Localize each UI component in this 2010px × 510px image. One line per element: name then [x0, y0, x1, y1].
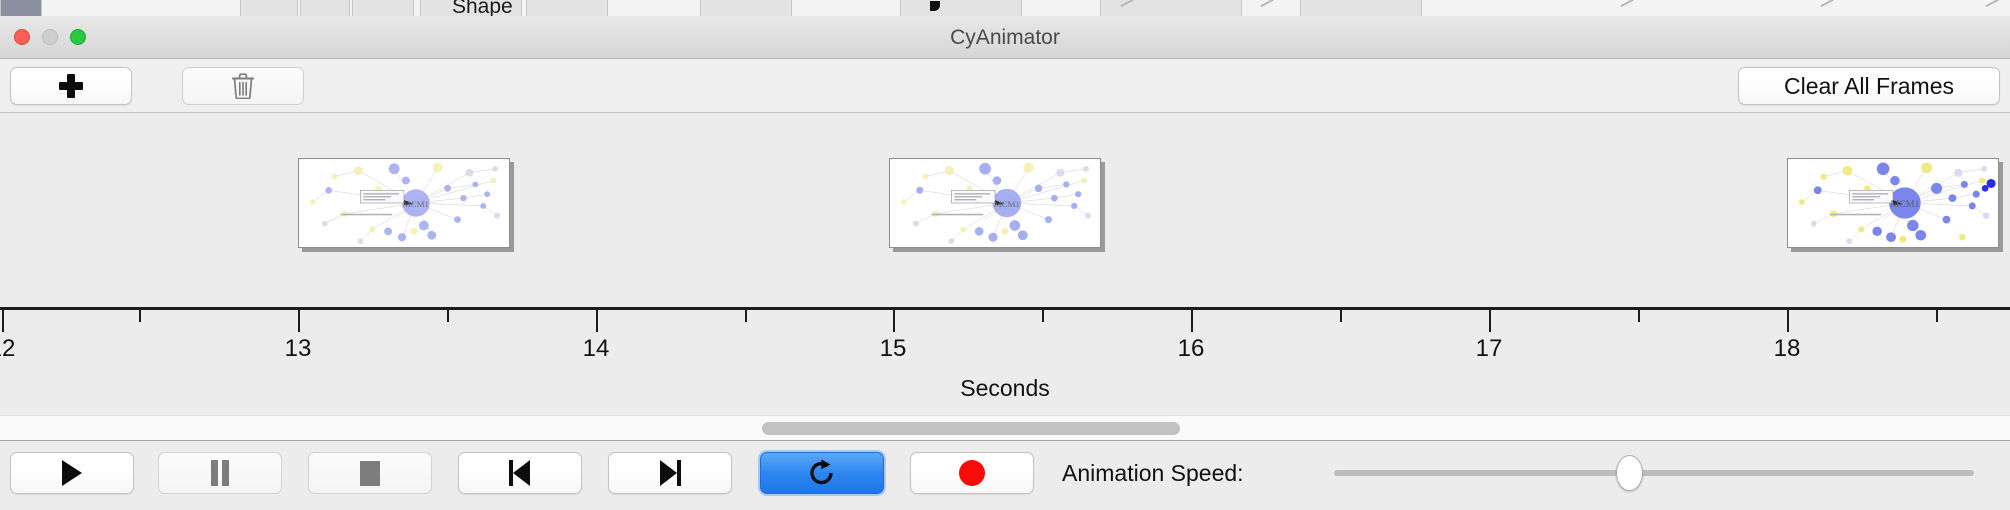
frame-image: MCM1	[298, 158, 510, 248]
frame-thumbnail[interactable]: MCM1	[889, 158, 1101, 248]
axis-tick-minor	[1042, 310, 1044, 322]
animation-speed-label: Animation Speed:	[1062, 452, 1244, 494]
background-partial-label: Shape	[452, 0, 513, 16]
skip-forward-icon	[659, 460, 681, 486]
frames-area[interactable]: MCM1	[0, 113, 2010, 307]
stop-icon	[360, 461, 380, 486]
network-thumbnail-pale: MCM1	[890, 159, 1100, 247]
axis-tick-major	[2, 310, 4, 332]
toolbar: Clear All Frames	[0, 59, 2010, 113]
window-title: CyAnimator	[0, 16, 2010, 59]
trash-icon	[232, 73, 254, 99]
background-fragment	[352, 0, 414, 16]
background-tick	[1620, 0, 1633, 7]
svg-text:MCM1: MCM1	[1890, 199, 1919, 210]
skip-forward-button[interactable]	[608, 452, 732, 494]
axis-tick-label: 15	[880, 335, 907, 363]
axis-tick-minor	[447, 310, 449, 322]
background-fragment	[900, 0, 1022, 16]
timeline-axis: 12131415161718 Seconds	[0, 307, 2010, 415]
axis-tick-label: 12	[0, 335, 15, 363]
svg-text:MCM1: MCM1	[994, 199, 1020, 209]
cyanimator-window: Shape CyAnimator	[0, 0, 2010, 510]
background-window-strip: Shape	[0, 0, 2010, 16]
axis-title: Seconds	[0, 375, 2010, 402]
axis-tick-label: 14	[583, 335, 610, 363]
background-tick	[1985, 0, 1998, 7]
background-fragment	[1100, 0, 1242, 16]
maximize-button[interactable]	[70, 29, 86, 45]
timeline-panel[interactable]: MCM1	[0, 113, 2010, 415]
axis-tick-major	[596, 310, 598, 332]
skip-back-button[interactable]	[458, 452, 582, 494]
animation-speed-slider[interactable]	[1334, 452, 1974, 494]
axis-tick-minor	[745, 310, 747, 322]
title-bar[interactable]: CyAnimator	[0, 16, 2010, 59]
loop-icon	[807, 458, 837, 488]
background-fragment	[300, 0, 350, 16]
axis-tick-minor	[139, 310, 141, 322]
add-frame-button[interactable]	[10, 67, 132, 105]
background-fragment	[1300, 0, 1422, 16]
minimize-button[interactable]	[42, 29, 58, 45]
axis-tick-major	[1787, 310, 1789, 332]
frame-thumbnail[interactable]: MCM1	[1787, 158, 1999, 248]
close-button[interactable]	[14, 29, 30, 45]
axis-tick-major	[1489, 310, 1491, 332]
axis-tick-label: 16	[1178, 335, 1205, 363]
axis-tick-minor	[1936, 310, 1938, 322]
background-fragment	[700, 0, 792, 16]
axis-tick-minor	[1340, 310, 1342, 322]
pause-icon	[210, 460, 230, 486]
axis-tick-major	[893, 310, 895, 332]
stop-button	[308, 452, 432, 494]
slider-track[interactable]	[1334, 470, 1974, 476]
record-icon	[959, 460, 985, 486]
axis-tick-label: 18	[1774, 335, 1801, 363]
axis-tick-minor	[1638, 310, 1640, 322]
pause-button	[158, 452, 282, 494]
background-tick	[1260, 0, 1273, 7]
play-button[interactable]	[10, 452, 134, 494]
svg-text:MCM1: MCM1	[403, 199, 429, 209]
network-thumbnail-pale: MCM1	[299, 159, 509, 247]
clear-all-frames-button[interactable]: Clear All Frames	[1738, 67, 2000, 105]
frame-thumbnail[interactable]: MCM1	[298, 158, 510, 248]
frame-image: MCM1	[1787, 158, 1999, 248]
background-tick	[1820, 0, 1833, 7]
network-thumbnail-vivid: MCM1	[1788, 159, 1998, 247]
loop-button[interactable]	[760, 452, 884, 494]
clear-all-frames-label: Clear All Frames	[1784, 75, 1954, 98]
delete-frame-button[interactable]	[182, 67, 304, 105]
plus-icon	[59, 74, 83, 98]
axis-line	[0, 307, 2010, 310]
skip-back-icon	[509, 460, 531, 486]
axis-tick-major	[1191, 310, 1193, 332]
scrollbar-thumb[interactable]	[762, 422, 1180, 435]
frame-image: MCM1	[889, 158, 1101, 248]
background-fragment	[0, 0, 42, 16]
axis-tick-label: 13	[285, 335, 312, 363]
playback-control-bar: Animation Speed:	[0, 441, 2010, 510]
background-fragment	[240, 0, 298, 16]
axis-tick-label: 17	[1476, 335, 1503, 363]
timeline-scrollbar[interactable]	[0, 415, 2010, 441]
slider-thumb[interactable]	[1616, 455, 1643, 491]
background-fragment	[526, 0, 608, 16]
axis-tick-major	[298, 310, 300, 332]
play-icon	[62, 460, 82, 486]
record-button[interactable]	[910, 452, 1034, 494]
